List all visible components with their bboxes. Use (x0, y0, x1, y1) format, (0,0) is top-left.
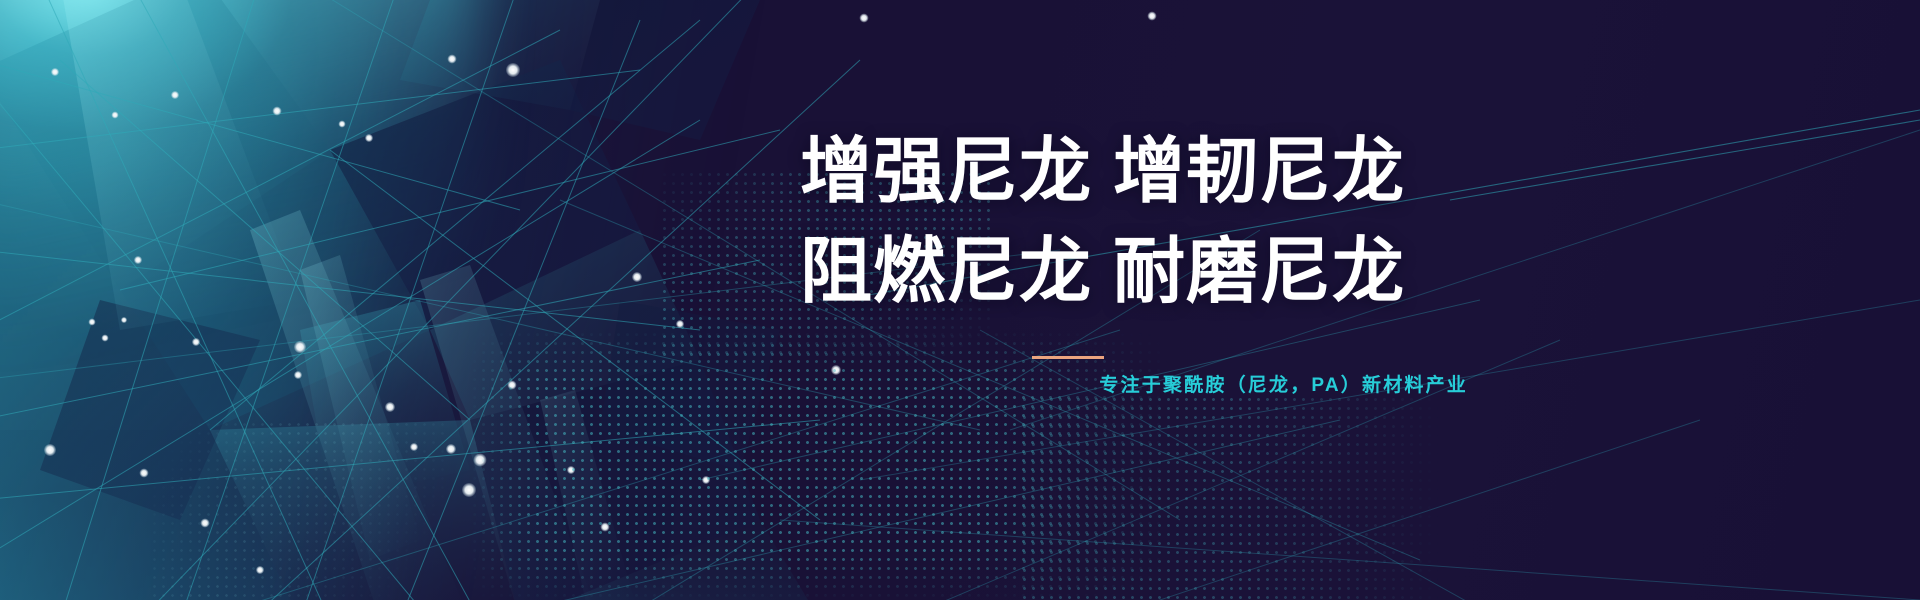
accent-rule (1032, 356, 1104, 359)
hero-banner: 增强尼龙 增韧尼龙 阻燃尼龙 耐磨尼龙 专注于聚酰胺（尼龙，PA）新材料产业 (0, 0, 1920, 600)
halftone-dot-field-left (150, 420, 450, 600)
headline-line-1: 增强尼龙 增韧尼龙 (800, 136, 1468, 208)
headline-line-2: 阻燃尼龙 耐磨尼龙 (800, 236, 1468, 308)
hero-subtitle: 专注于聚酰胺（尼龙，PA）新材料产业 (800, 370, 1468, 397)
hero-text-block: 增强尼龙 增韧尼龙 阻燃尼龙 耐磨尼龙 专注于聚酰胺（尼龙，PA）新材料产业 (800, 0, 1468, 600)
